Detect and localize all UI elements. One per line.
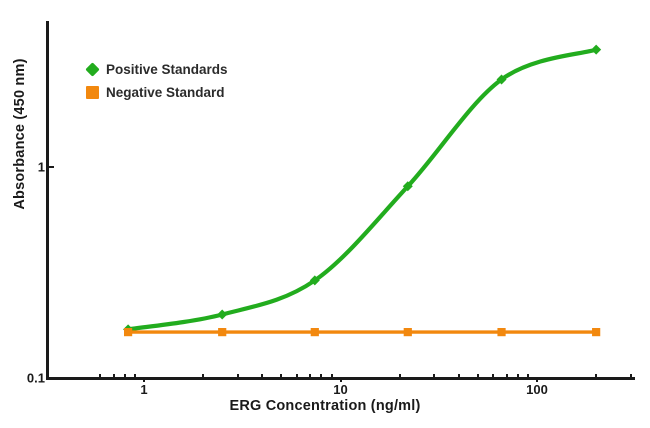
data-point-square [497,328,505,336]
data-point-square [311,328,319,336]
plot-area [0,0,650,428]
data-point-diamond [217,309,227,319]
chart-canvas: 110100 1 0.1 ERG Concentration (ng/ml) A… [0,0,650,428]
data-point-square [218,328,226,336]
data-point-diamond [591,45,601,55]
series-positive-standards [123,45,601,335]
series-line [128,50,596,330]
data-point-square [592,328,600,336]
data-point-square [124,328,132,336]
series-negative-standard [124,328,600,336]
data-point-square [404,328,412,336]
